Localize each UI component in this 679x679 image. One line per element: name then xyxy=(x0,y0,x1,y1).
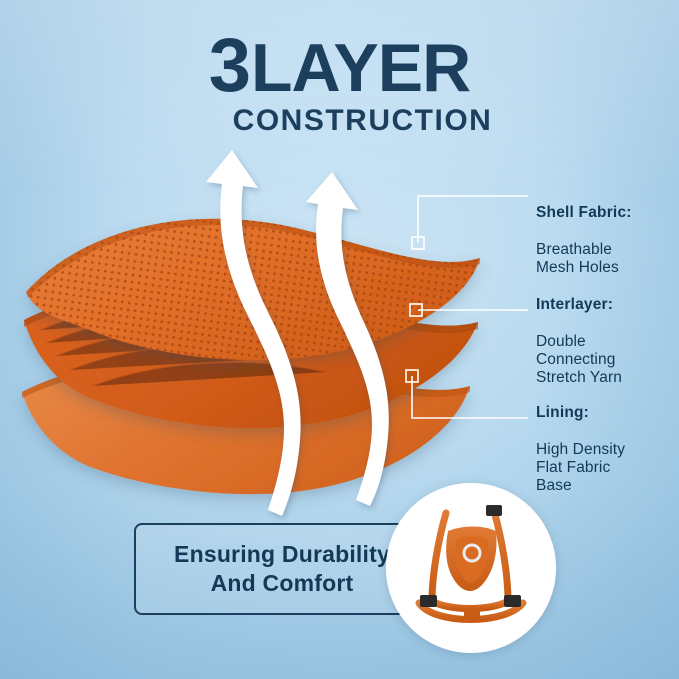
callout-shell-fabric-heading: Shell Fabric: xyxy=(536,204,632,222)
callout-lining-body: High Density Flat Fabric Base xyxy=(536,441,625,496)
callout-shell-fabric-body: Breathable Mesh Holes xyxy=(536,241,632,278)
tagline-text: Ensuring Durability And Comfort xyxy=(174,540,416,598)
callout-lining: Lining: High Density Flat Fabric Base xyxy=(536,386,625,514)
callout-leader-shell xyxy=(412,196,528,249)
callout-interlayer-body: Double Connecting Stretch Yarn xyxy=(536,333,622,388)
infographic-canvas: 3 LAYER CONSTRUCTION xyxy=(0,0,679,679)
product-image xyxy=(386,483,556,653)
callout-lining-heading: Lining: xyxy=(536,404,625,422)
callout-interlayer-heading: Interlayer: xyxy=(536,296,622,314)
dog-harness-illustration xyxy=(386,483,556,653)
